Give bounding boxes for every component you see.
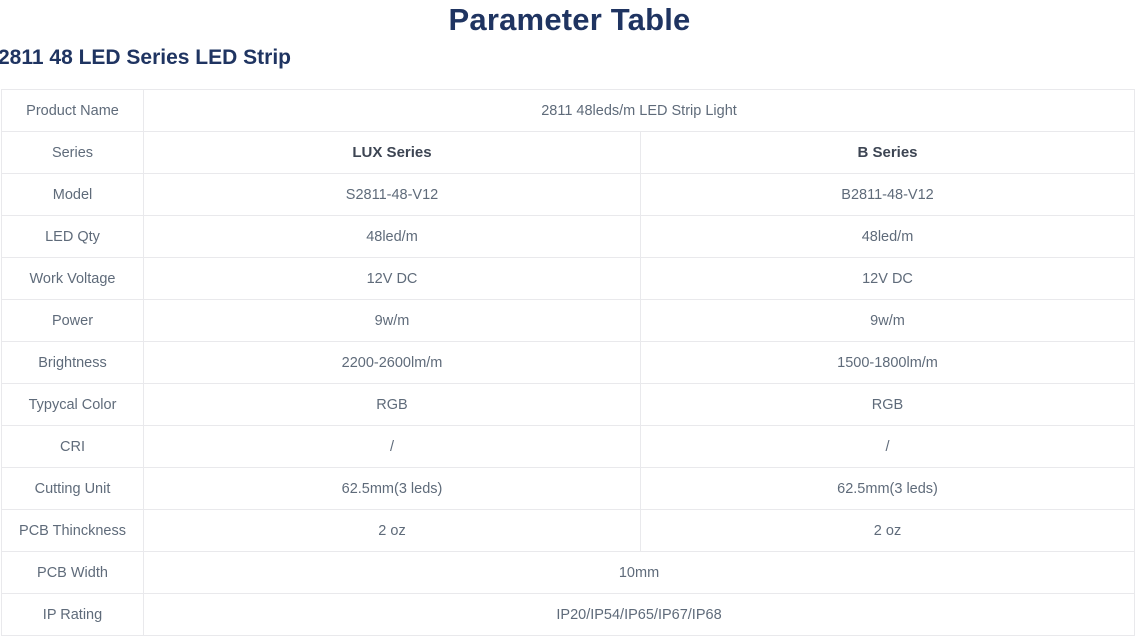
parameter-table-page: Parameter Table 2811 48 LED Series LED S…: [0, 0, 1139, 628]
table-row: CRI//: [2, 426, 1135, 468]
row-value-merged: 2811 48leds/m LED Strip Light: [144, 90, 1135, 132]
row-value-b-series: B Series: [641, 132, 1135, 174]
row-value-lux-series: 12V DC: [144, 258, 641, 300]
page-subtitle: 2811 48 LED Series LED Strip: [0, 44, 291, 72]
row-value-b-series: 1500-1800lm/m: [641, 342, 1135, 384]
table-row: IP RatingIP20/IP54/IP65/IP67/IP68: [2, 594, 1135, 636]
row-label: LED Qty: [2, 216, 144, 258]
table-row: PCB Width10mm: [2, 552, 1135, 594]
table-row: LED Qty48led/m48led/m: [2, 216, 1135, 258]
table-row: ModelS2811-48-V12B2811-48-V12: [2, 174, 1135, 216]
row-value-b-series: 2 oz: [641, 510, 1135, 552]
parameter-table-body: Product Name2811 48leds/m LED Strip Ligh…: [2, 90, 1135, 636]
table-row: SeriesLUX SeriesB Series: [2, 132, 1135, 174]
row-value-lux-series: 2200-2600lm/m: [144, 342, 641, 384]
row-label: CRI: [2, 426, 144, 468]
parameter-table: Product Name2811 48leds/m LED Strip Ligh…: [1, 89, 1135, 636]
row-label: IP Rating: [2, 594, 144, 636]
row-value-merged: IP20/IP54/IP65/IP67/IP68: [144, 594, 1135, 636]
row-value-lux-series: S2811-48-V12: [144, 174, 641, 216]
row-value-b-series: 9w/m: [641, 300, 1135, 342]
row-label: Model: [2, 174, 144, 216]
row-value-b-series: 12V DC: [641, 258, 1135, 300]
row-value-lux-series: LUX Series: [144, 132, 641, 174]
row-label: Power: [2, 300, 144, 342]
table-row: Cutting Unit62.5mm(3 leds)62.5mm(3 leds): [2, 468, 1135, 510]
row-value-lux-series: /: [144, 426, 641, 468]
row-value-merged: 10mm: [144, 552, 1135, 594]
table-row: PCB Thinckness2 oz2 oz: [2, 510, 1135, 552]
row-value-lux-series: 9w/m: [144, 300, 641, 342]
row-label: Series: [2, 132, 144, 174]
table-row: Work Voltage12V DC12V DC: [2, 258, 1135, 300]
row-value-b-series: 62.5mm(3 leds): [641, 468, 1135, 510]
row-value-b-series: 48led/m: [641, 216, 1135, 258]
page-title: Parameter Table: [0, 1, 1139, 39]
row-value-b-series: /: [641, 426, 1135, 468]
row-value-lux-series: RGB: [144, 384, 641, 426]
row-label: Typycal Color: [2, 384, 144, 426]
row-value-lux-series: 62.5mm(3 leds): [144, 468, 641, 510]
table-row: Typycal ColorRGBRGB: [2, 384, 1135, 426]
table-row: Brightness2200-2600lm/m1500-1800lm/m: [2, 342, 1135, 384]
table-row: Power9w/m9w/m: [2, 300, 1135, 342]
row-label: Cutting Unit: [2, 468, 144, 510]
table-row: Product Name2811 48leds/m LED Strip Ligh…: [2, 90, 1135, 132]
row-label: Work Voltage: [2, 258, 144, 300]
row-label: PCB Thinckness: [2, 510, 144, 552]
row-label: Brightness: [2, 342, 144, 384]
row-label: PCB Width: [2, 552, 144, 594]
row-label: Product Name: [2, 90, 144, 132]
row-value-b-series: RGB: [641, 384, 1135, 426]
row-value-lux-series: 2 oz: [144, 510, 641, 552]
row-value-lux-series: 48led/m: [144, 216, 641, 258]
row-value-b-series: B2811-48-V12: [641, 174, 1135, 216]
